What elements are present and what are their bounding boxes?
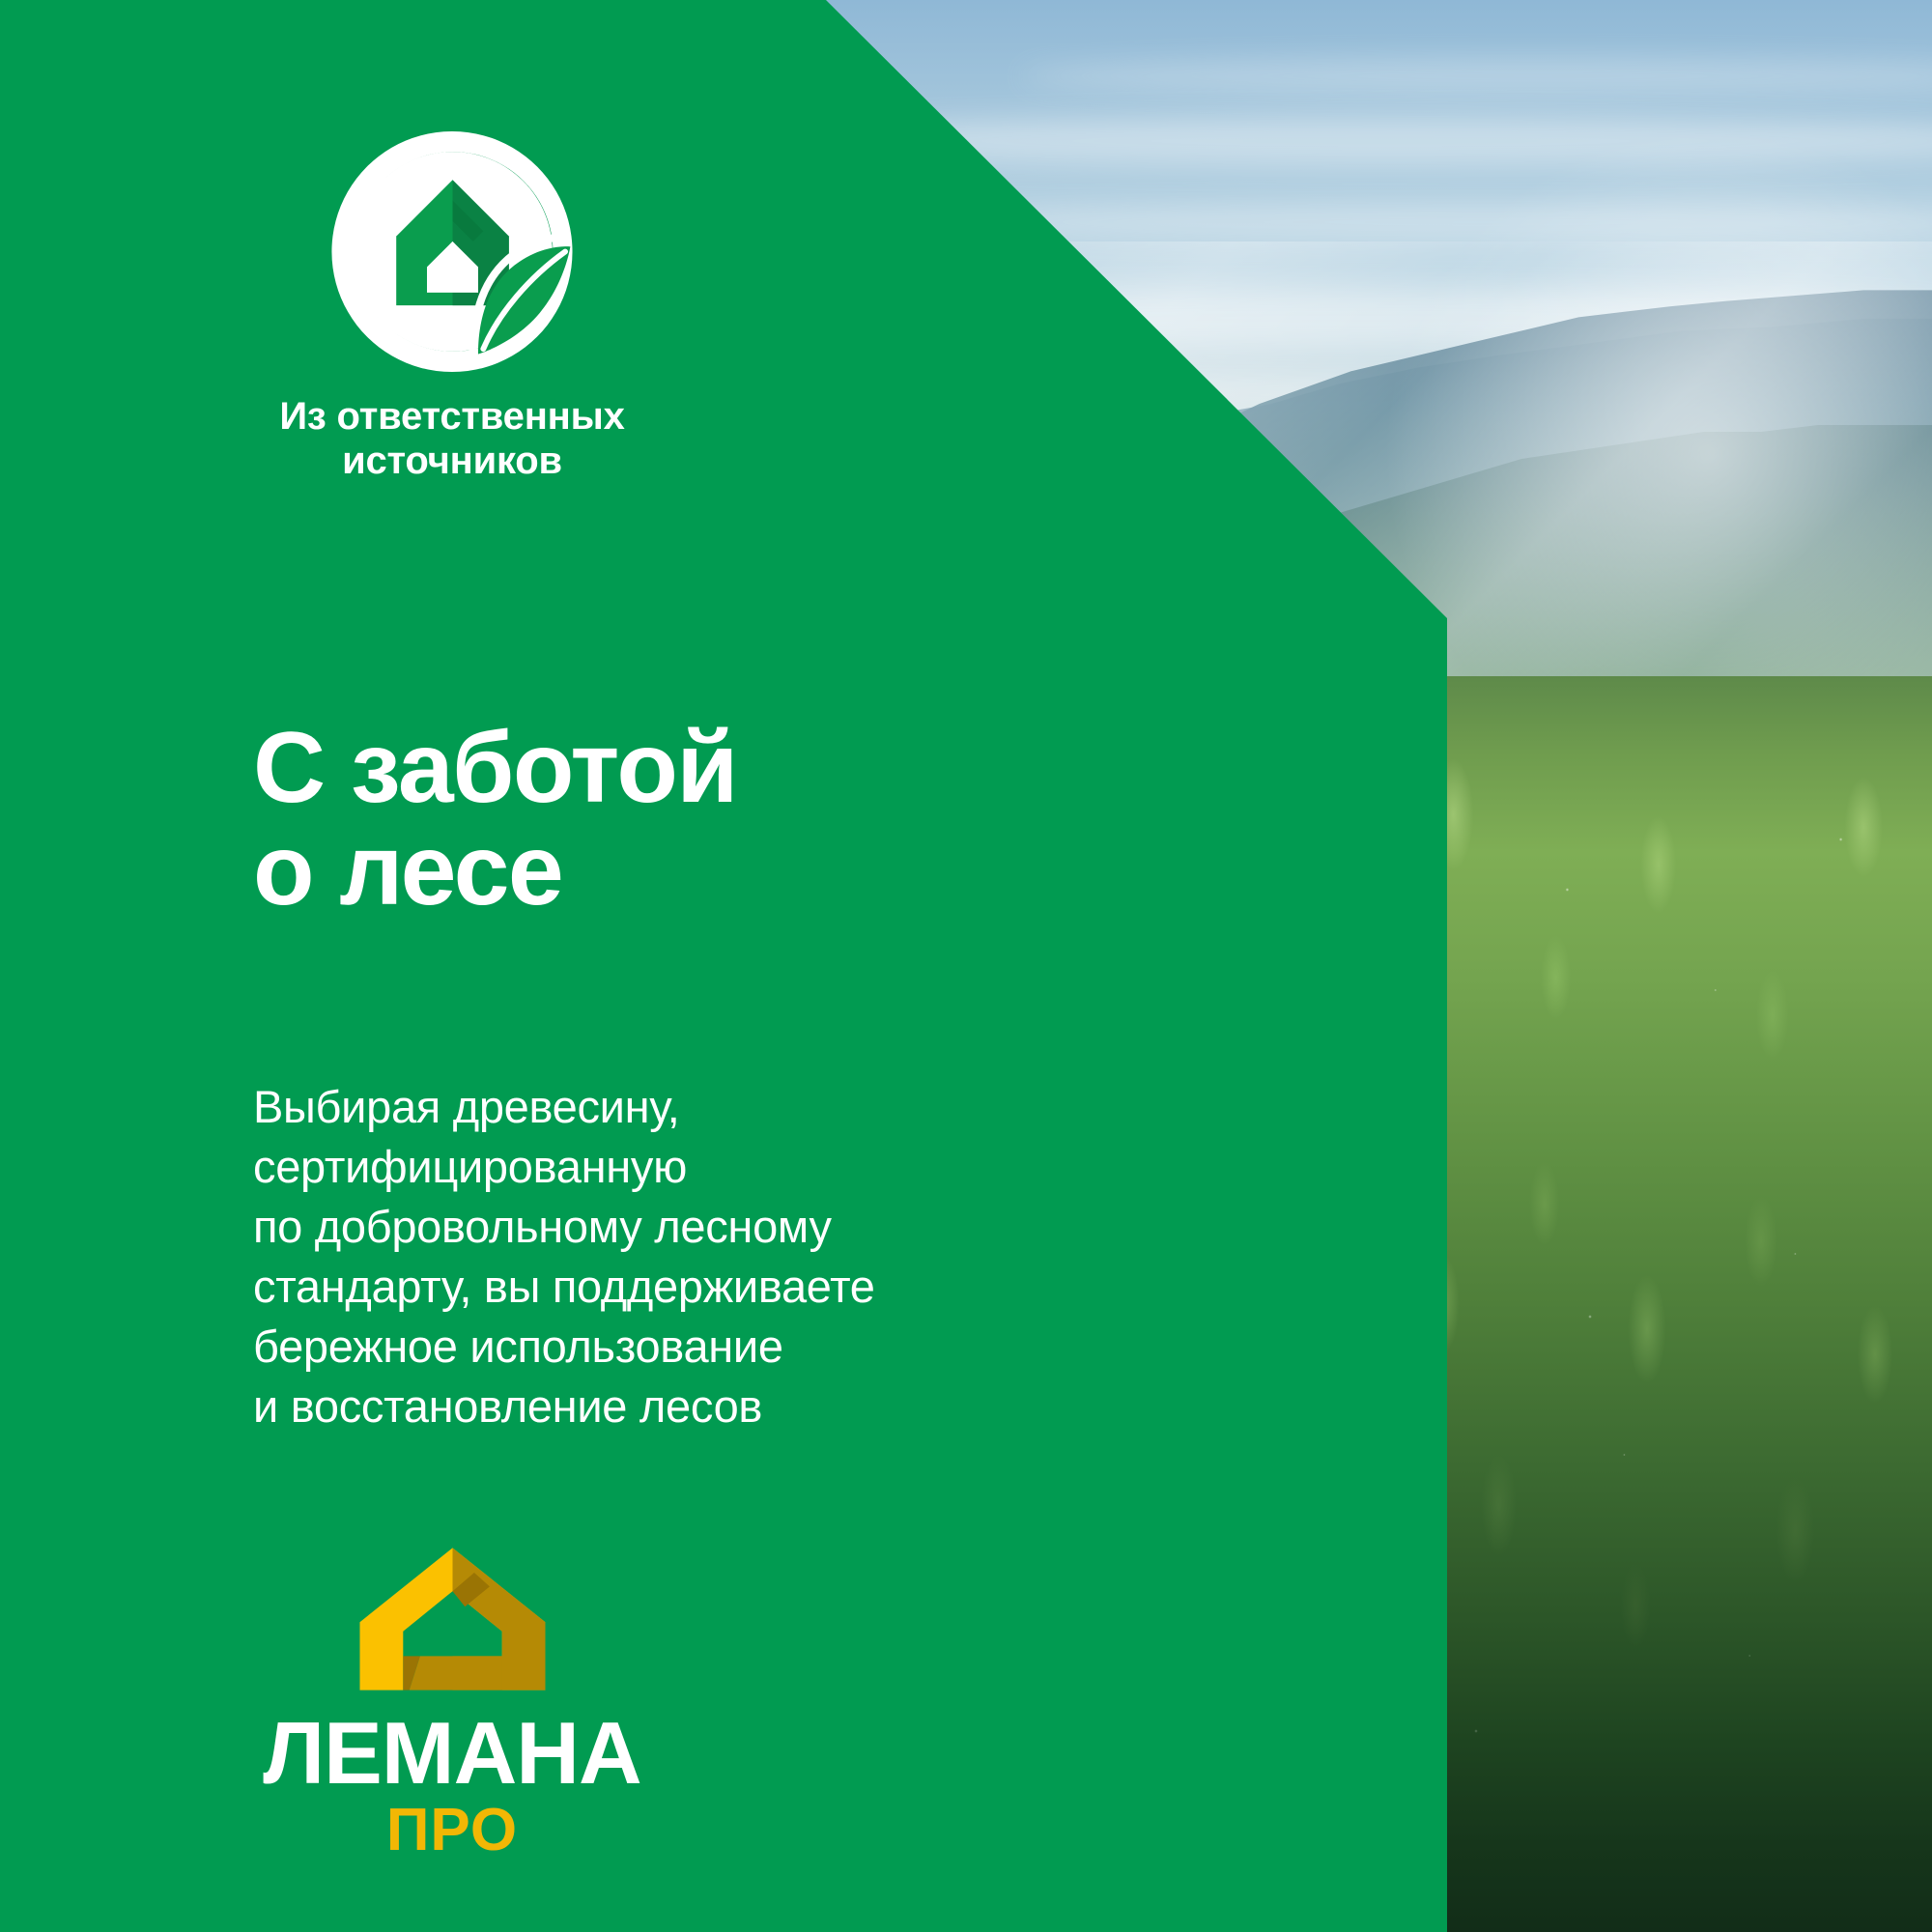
eco-caption-line-1: Из ответственных — [249, 395, 655, 440]
responsible-sourcing-caption: Из ответственных источников — [249, 395, 655, 483]
brand-sub: ПРО — [249, 1801, 655, 1861]
lemana-house-icon — [354, 1542, 552, 1696]
poster-canvas: Из ответственных источников С заботой о … — [0, 0, 1932, 1932]
page-title: С заботой о лесе — [253, 717, 737, 922]
poster-content: Из ответственных источников С заботой о … — [0, 0, 1932, 1932]
responsible-sourcing-emblem — [325, 124, 581, 380]
eco-caption-line-2: источников — [249, 440, 655, 484]
body-paragraph: Выбирая древесину, сертифицированную по … — [253, 1077, 875, 1436]
responsible-sourcing-badge: Из ответственных источников — [249, 124, 655, 483]
brand-lockup: ЛЕМАНА ПРО — [249, 1542, 655, 1861]
brand-name: ЛЕМАНА — [249, 1714, 655, 1795]
